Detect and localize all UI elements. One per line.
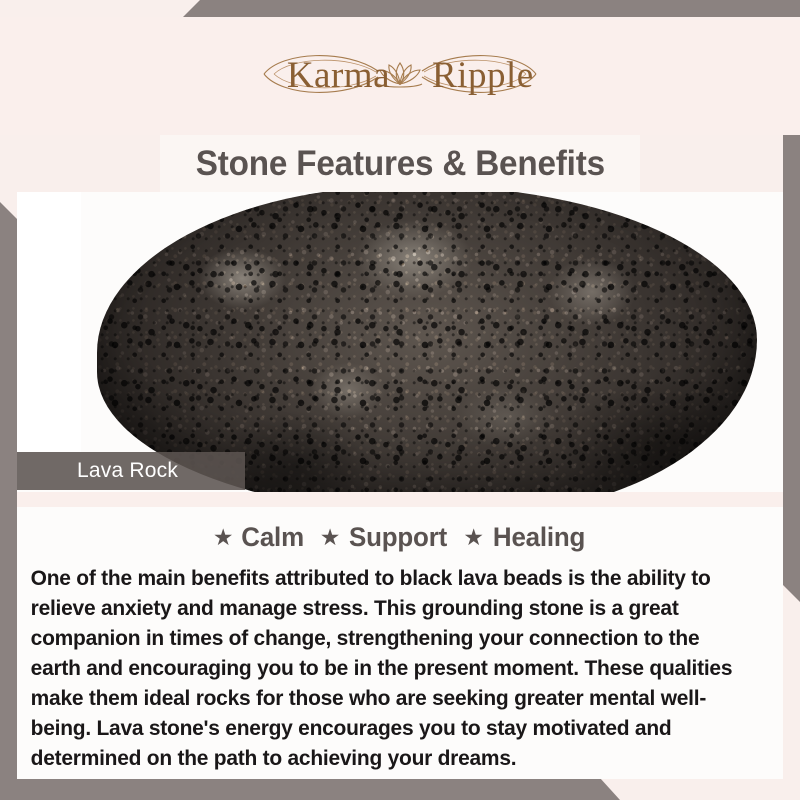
title-band: Stone Features & Benefits — [160, 135, 640, 192]
photo-caption-bar: Lava Rock — [17, 452, 245, 490]
photo-left-fill — [17, 192, 81, 452]
rock-shape — [97, 192, 757, 492]
star-icon: ★ — [320, 526, 341, 549]
benefit-item-calm: ★ Calm — [213, 522, 306, 553]
header: Karma Ripple — [0, 17, 800, 135]
description-text: One of the main benefits attributed to b… — [17, 557, 764, 773]
frame-top-border — [0, 0, 800, 17]
rock-texture-fine — [97, 192, 757, 492]
brand-logo-svg: Karma Ripple — [250, 43, 550, 105]
benefit-label-healing: Healing — [493, 522, 585, 553]
benefit-item-support: ★ Support — [320, 522, 450, 553]
star-icon: ★ — [213, 526, 234, 549]
brand-name-second: Ripple — [432, 55, 534, 96]
infographic-card: Karma Ripple Stone Features & Benefits L… — [0, 0, 800, 800]
brand-logo: Karma Ripple — [0, 43, 800, 105]
benefits-list: ★ Calm ★ Support ★ Healing — [17, 507, 783, 557]
frame-bottom-border — [0, 778, 620, 800]
benefit-label-calm: Calm — [242, 522, 305, 553]
divider-strip — [17, 492, 783, 507]
photo-caption-label: Lava Rock — [17, 459, 178, 483]
page-title: Stone Features & Benefits — [195, 144, 604, 184]
star-icon: ★ — [463, 526, 484, 549]
brand-name-first: Karma — [287, 55, 390, 96]
lava-rock-photo — [17, 192, 783, 492]
benefit-label-support: Support — [349, 522, 447, 553]
benefit-item-healing: ★ Healing — [463, 522, 587, 553]
frame-left-border — [0, 202, 17, 800]
body-panel: ★ Calm ★ Support ★ Healing One of the ma… — [17, 507, 783, 779]
